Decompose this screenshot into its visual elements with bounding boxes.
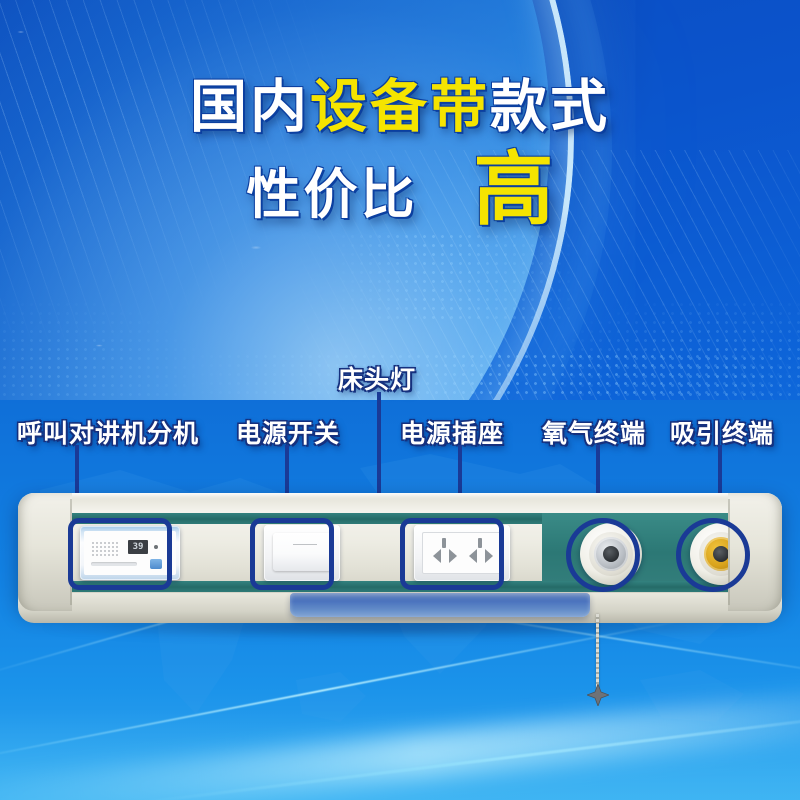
panel-end-cap-left	[18, 493, 72, 611]
callout-label-nurse-call-intercom[interactable]: 呼叫对讲机分机	[17, 414, 199, 450]
highlight-box-power-socket	[400, 518, 504, 590]
headline-seg-3: 款式	[490, 75, 610, 139]
highlight-circle-suction-terminal	[676, 518, 750, 592]
bottom-fade	[0, 710, 800, 800]
cord-bead-chain	[596, 614, 599, 688]
callout-label-bed-lamp[interactable]: 床头灯	[338, 360, 416, 396]
halftone-dots-1	[330, 232, 580, 322]
highlight-circle-oxygen-terminal	[566, 518, 640, 592]
highlight-box-nurse-call-intercom	[68, 518, 172, 590]
headline-seg-1: 国内	[190, 75, 310, 139]
bed-lamp-diffuser[interactable]	[290, 593, 590, 617]
cord-tip-cross-icon[interactable]	[587, 684, 609, 706]
headline-subtext: 性价比	[247, 150, 418, 229]
callout-label-power-socket[interactable]: 电源插座	[400, 414, 504, 450]
headline-seg-2: 设备带	[310, 75, 490, 139]
headline-block: 国内设备带款式 性价比 高	[0, 78, 800, 138]
promo-banner: 国内设备带款式 性价比 高 呼叫对讲机分机 电源开关 床头灯 电源插座 氧气终端…	[0, 0, 800, 800]
headline-line-1: 国内设备带款式	[0, 78, 800, 138]
highlight-box-power-switch	[250, 518, 334, 590]
headline-emphasis: 高	[474, 152, 554, 228]
headline-line-2: 性价比 高	[0, 150, 800, 229]
callout-label-suction-terminal[interactable]: 吸引终端	[670, 414, 774, 450]
callout-label-oxygen-terminal[interactable]: 氧气终端	[542, 414, 646, 450]
